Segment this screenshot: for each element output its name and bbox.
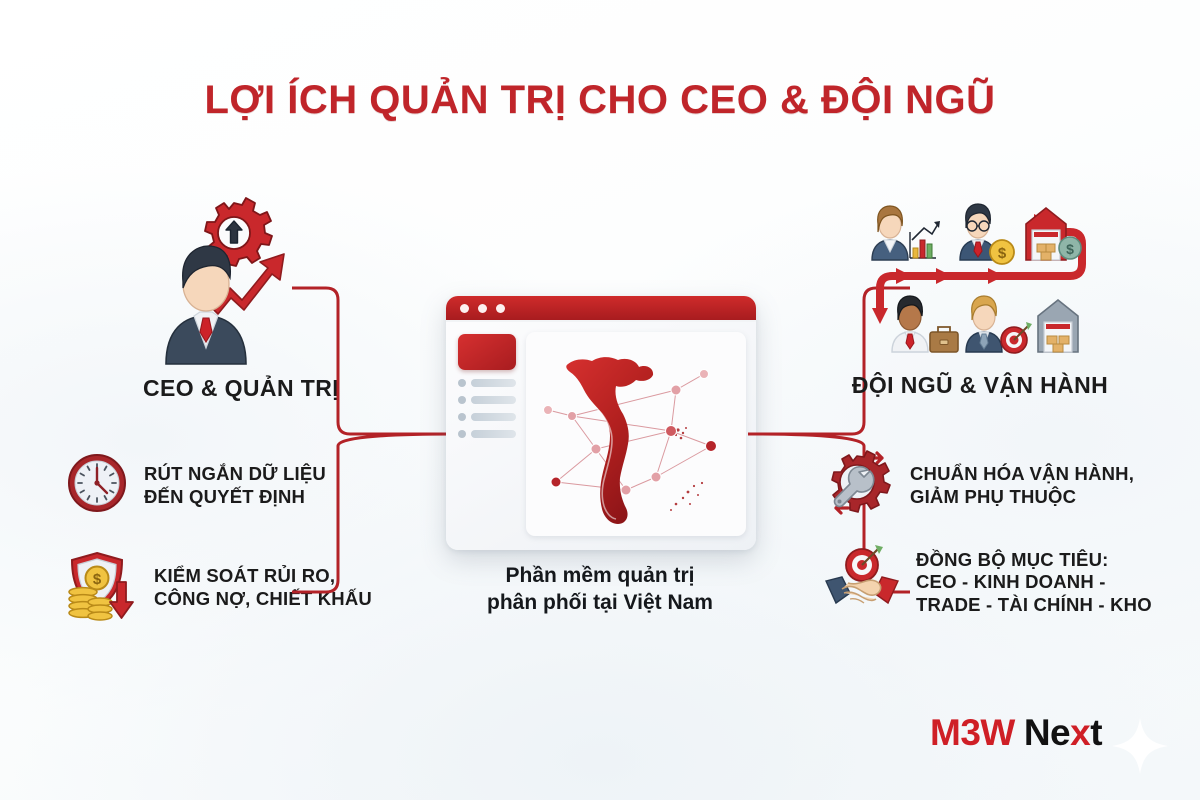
sidebar-item[interactable] <box>458 396 516 404</box>
left-connector <box>292 282 454 603</box>
bullet-dot-icon <box>458 379 466 387</box>
sidebar-item[interactable] <box>458 430 516 438</box>
bullet-dot-icon <box>458 430 466 438</box>
team-flow-illustration: $ $ <box>866 198 1096 363</box>
sidebar-item-label <box>471 396 516 404</box>
svg-text:$: $ <box>1066 241 1074 257</box>
page-title: LỢI ÍCH QUẢN TRỊ CHO CEO & ĐỘI NGŨ <box>0 78 1200 123</box>
ceo-gear-arrow-icon <box>150 196 310 366</box>
svg-text:$: $ <box>998 245 1007 262</box>
right-bullet-1-text: CHUẨN HÓA VẬN HÀNH, GIẢM PHỤ THUỘC <box>910 463 1134 508</box>
sidebar-item[interactable] <box>458 413 516 421</box>
titlebar-dot-3 <box>496 304 505 313</box>
svg-text:$: $ <box>93 571 102 588</box>
logo-sparkle-icon <box>1108 714 1172 778</box>
sidebar-item-label <box>471 413 516 421</box>
handshake-target-icon <box>824 545 900 620</box>
right-bullet-1: CHUẨN HÓA VẬN HÀNH, GIẢM PHỤ THUỘC <box>824 450 1134 521</box>
vietnam-map-network <box>526 332 746 536</box>
infographic-canvas: LỢI ÍCH QUẢN TRỊ CHO CEO & ĐỘI NGŨ CEO &… <box>0 0 1200 800</box>
browser-content <box>446 322 756 550</box>
browser-window-mockup <box>446 296 756 550</box>
clock-icon <box>66 452 128 519</box>
logo-next-accent: x <box>1070 712 1090 753</box>
browser-sidebar <box>458 332 516 536</box>
center-caption: Phần mềm quản trị phân phối tại Việt Nam <box>400 563 800 617</box>
team-warehouse-flow-icon: $ $ <box>866 198 1096 358</box>
sidebar-item[interactable] <box>458 379 516 387</box>
sidebar-item-label <box>471 430 516 438</box>
shield-coins-down-arrow-icon: $ <box>60 548 138 627</box>
gear-wrench-icon <box>824 450 894 521</box>
titlebar-dot-1 <box>460 304 469 313</box>
browser-titlebar <box>446 296 756 322</box>
ceo-illustration <box>150 196 310 371</box>
left-bullet-1: RÚT NGẮN DỮ LIỆU ĐẾN QUYẾT ĐỊNH <box>66 452 326 519</box>
sidebar-item-label <box>471 379 516 387</box>
logo-next-prefix: Ne <box>1024 712 1070 753</box>
logo-next-suffix: t <box>1090 712 1102 753</box>
right-bullet-2-text: ĐỒNG BỘ MỤC TIÊU: CEO - KINH DOANH - TRA… <box>916 549 1152 617</box>
titlebar-dot-2 <box>478 304 487 313</box>
logo-m3w-text: M3W <box>930 712 1015 754</box>
sidebar-logo-block <box>458 334 516 370</box>
right-column-heading: ĐỘI NGŨ & VẬN HÀNH <box>820 372 1140 399</box>
right-bullet-2: ĐỒNG BỘ MỤC TIÊU: CEO - KINH DOANH - TRA… <box>824 545 1152 620</box>
brand-logo: M3W Next <box>930 712 1102 754</box>
logo-next-text: Next <box>1024 712 1102 754</box>
bullet-dot-icon <box>458 396 466 404</box>
bullet-dot-icon <box>458 413 466 421</box>
